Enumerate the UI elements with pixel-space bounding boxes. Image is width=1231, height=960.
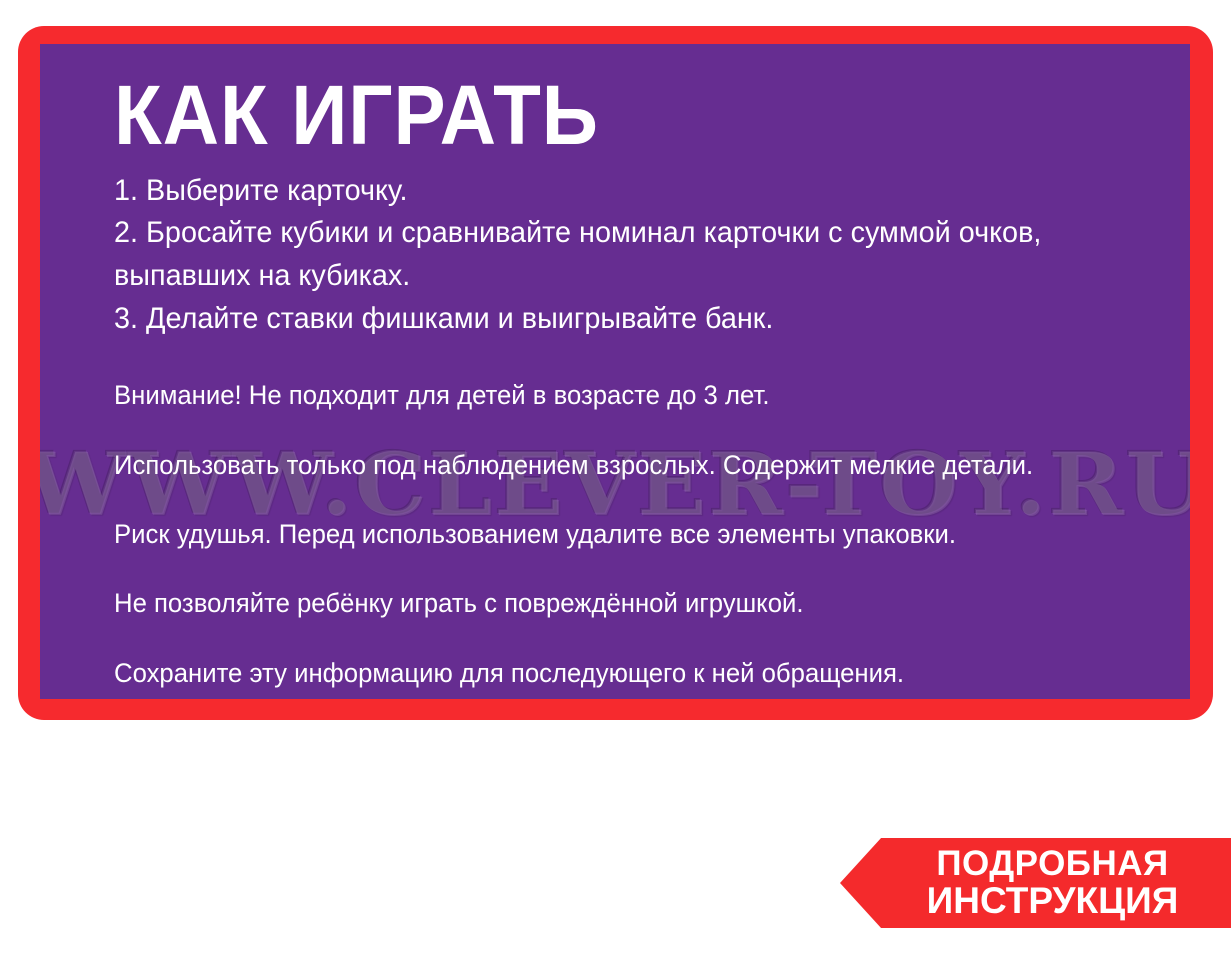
warning-line: Не позволяйте ребёнку играть с повреждён… [114, 582, 1129, 625]
instruction-card: WWW.CLEVER-TOY.RU КАК ИГРАТЬ 1. Выберите… [40, 44, 1190, 699]
badge-label-line-2: ИНСТРУКЦИЯ [927, 882, 1179, 920]
instruction-panel: WWW.CLEVER-TOY.RU КАК ИГРАТЬ 1. Выберите… [18, 26, 1213, 720]
warning-line: Сохраните эту информацию для последующег… [114, 652, 1129, 695]
steps-list: 1. Выберите карточку. 2. Бросайте кубики… [114, 170, 1160, 340]
list-item: 2. Бросайте кубики и сравнивайте номинал… [114, 212, 1108, 297]
warning-line: Внимание! Не подходит для детей в возрас… [114, 374, 1129, 417]
list-item: 1. Выберите карточку. [114, 170, 1108, 213]
instruction-content: КАК ИГРАТЬ 1. Выберите карточку. 2. Брос… [114, 44, 1160, 699]
warning-block: Внимание! Не подходит для детей в возрас… [114, 374, 1160, 699]
warning-line: Использовать только под наблюдением взро… [114, 444, 1129, 487]
page-title: КАК ИГРАТЬ [114, 44, 1087, 156]
warning-line: Риск удушья. Перед использованием удалит… [114, 513, 1129, 556]
badge-label-line-1: ПОДРОБНАЯ [936, 846, 1168, 882]
detailed-instruction-badge[interactable]: ПОДРОБНАЯ ИНСТРУКЦИЯ [840, 838, 1231, 928]
list-item: 3. Делайте ставки фишками и выигрывайте … [114, 298, 1108, 341]
